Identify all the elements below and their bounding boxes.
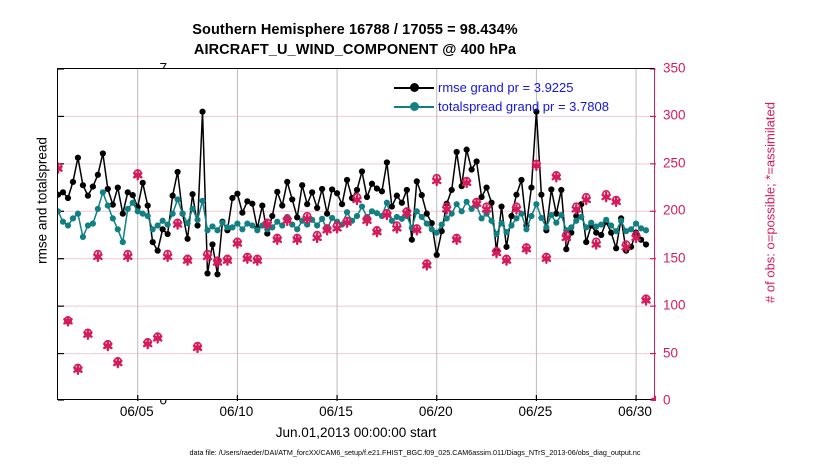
y-tick-right-0: 0 [663, 393, 709, 407]
chart-title: Southern Hemisphere 16788 / 17055 = 98.4… [0, 20, 710, 60]
chart-figure: Southern Hemisphere 16788 / 17055 = 98.4… [0, 0, 830, 470]
y-axis-label-left: rmse and totalspread [35, 86, 50, 316]
legend-swatch-rmse-icon [394, 87, 434, 89]
plot-area [57, 68, 655, 400]
legend-label-totalspread: totalspread grand pr = 3.7808 [438, 99, 609, 114]
series-rmse [58, 109, 649, 278]
chart-legend: rmse grand pr = 3.9225 totalspread grand… [392, 78, 650, 116]
legend-item-rmse: rmse grand pr = 3.9225 [392, 78, 650, 97]
y-tick-right-100: 100 [663, 298, 709, 312]
x-tick-06/20: 06/20 [406, 404, 466, 419]
y-tick-right-200: 200 [663, 204, 709, 218]
x-tick-06/15: 06/15 [306, 404, 366, 419]
series-obs_assimilated [58, 162, 656, 401]
title-line-1: Southern Hemisphere 16788 / 17055 = 98.4… [0, 20, 710, 40]
y-axis-label-right: # of obs: o=possible; *=assimilated [763, 73, 778, 333]
y-tick-right-150: 150 [663, 251, 709, 265]
x-axis-label: Jun.01,2013 00:00:00 start [57, 425, 655, 440]
y-tick-right-250: 250 [663, 156, 709, 170]
y-tick-right-50: 50 [663, 346, 709, 360]
data-file-caption: data file: /Users/raeder/DAI/ATM_forcXX/… [0, 448, 830, 457]
plot-canvas [58, 69, 656, 401]
x-tick-06/05: 06/05 [107, 404, 167, 419]
x-tick-06/30: 06/30 [605, 404, 665, 419]
y-tick-right-300: 300 [663, 109, 709, 123]
x-tick-06/10: 06/10 [206, 404, 266, 419]
legend-swatch-totalspread-icon [394, 106, 434, 108]
legend-item-totalspread: totalspread grand pr = 3.7808 [392, 97, 650, 116]
legend-label-rmse: rmse grand pr = 3.9225 [438, 80, 574, 95]
x-tick-06/25: 06/25 [505, 404, 565, 419]
title-line-2: AIRCRAFT_U_WIND_COMPONENT @ 400 hPa [0, 40, 710, 60]
y-tick-right-350: 350 [663, 61, 709, 75]
